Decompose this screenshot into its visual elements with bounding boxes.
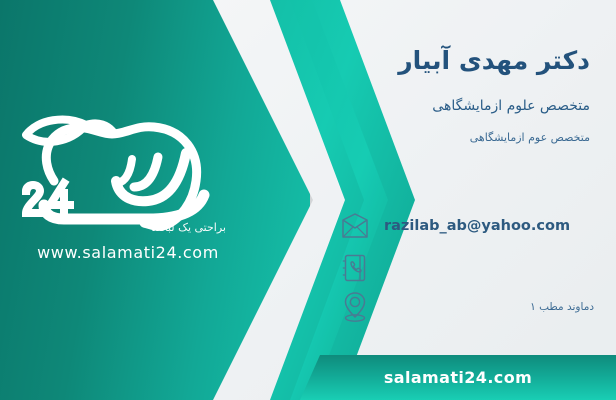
contact-row-address[interactable]: دماوند مطب ۱ <box>338 290 594 324</box>
doctor-name: دکتر مهدی آبیار <box>340 46 590 76</box>
card-content: دکتر مهدی آبیار متخصص علوم ازمایشگاهی مت… <box>330 0 598 400</box>
contact-row-phone[interactable] <box>338 251 594 285</box>
salamati24-logo: براحتی یک لبخند www.salamati24.com <box>8 95 248 280</box>
address-value[interactable]: دماوند مطب ۱ <box>380 301 594 313</box>
phone-book-icon <box>338 251 372 285</box>
contact-row-email[interactable]: razilab_ab@yahoo.com <box>338 209 594 243</box>
doctor-specialty-primary: متخصص علوم ازمایشگاهی <box>340 97 590 115</box>
doctor-specialty-secondary: متخصص عوم ازمایشگاهی <box>340 131 590 145</box>
location-pin-icon <box>338 290 372 324</box>
envelope-icon <box>338 209 372 243</box>
footer-banner: salamati24.com <box>300 355 616 400</box>
logo-tagline: براحتی یک لبخند <box>152 221 226 234</box>
footer-website[interactable]: salamati24.com <box>384 368 532 387</box>
business-card: براحتی یک لبخند www.salamati24.com دکتر … <box>0 0 616 400</box>
logo-website-url[interactable]: www.salamati24.com <box>8 243 248 262</box>
email-value[interactable]: razilab_ab@yahoo.com <box>380 218 594 234</box>
